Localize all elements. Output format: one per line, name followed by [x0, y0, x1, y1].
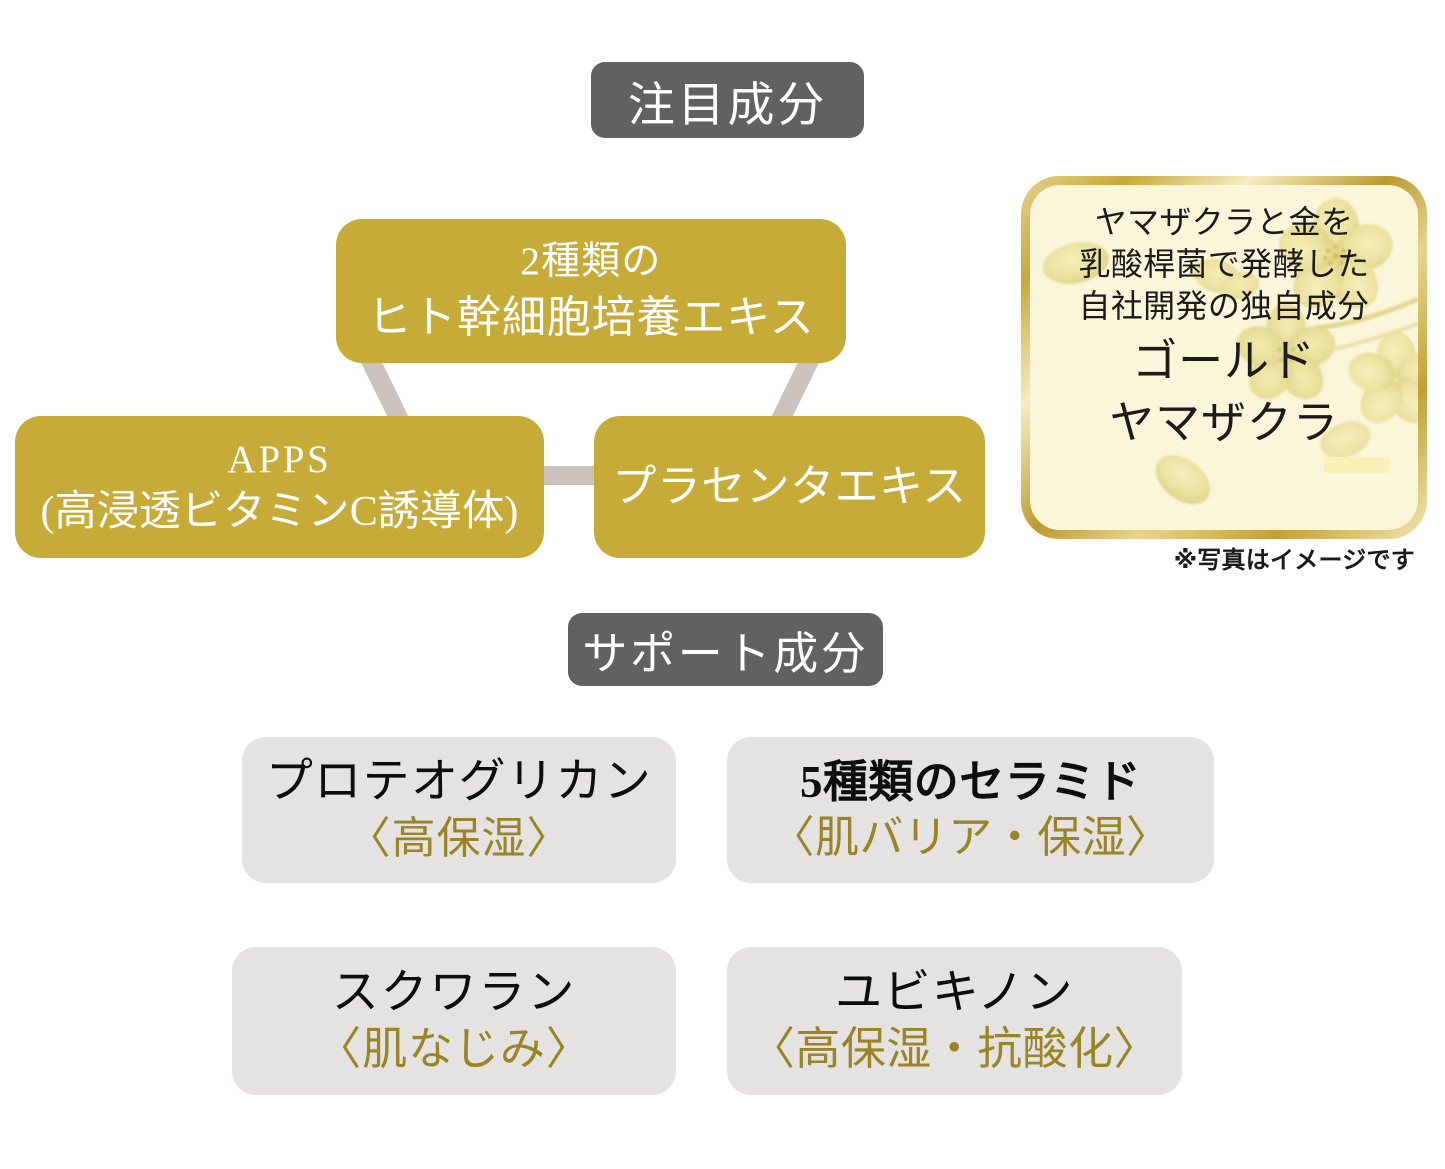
product-card-line5: ヤマザクラ — [1109, 394, 1339, 453]
ingredient-stem-cell-line2: ヒト幹細胞培養エキス — [367, 292, 814, 344]
section-header-featured-ingredients: 注目成分 — [591, 62, 864, 138]
ingredient-placenta-line1: プラセンタエキス — [612, 461, 966, 513]
support-card-proteoglycan-name: プロテオグリカン — [266, 756, 652, 810]
support-card-ubiquinone-name: ユビキノン — [835, 967, 1074, 1021]
product-card-line3: 自社開発の独自成分 — [1079, 285, 1370, 327]
product-image-inner: ヤマザクラと金を 乳酸桿菌で発酵した 自社開発の独自成分 ゴールド ヤマザクラ — [1030, 185, 1418, 530]
product-card-line2: 乳酸桿菌で発酵した — [1079, 243, 1370, 285]
support-card-ceramide-benefit: 〈肌バリア・保湿〉 — [771, 813, 1171, 863]
support-card-squalane-benefit: 〈肌なじみ〉 — [316, 1024, 591, 1075]
support-card-squalane-name: スクワラン — [332, 967, 576, 1021]
section-header-support-ingredients: サポート成分 — [568, 613, 883, 686]
section-header-support-label: サポート成分 — [582, 617, 868, 682]
support-card-ubiquinone-benefit: 〈高保湿・抗酸化〉 — [750, 1024, 1159, 1075]
product-card-line4: ゴールド — [1132, 332, 1316, 391]
support-card-squalane: スクワラン 〈肌なじみ〉 — [232, 947, 676, 1095]
ingredient-box-apps: APPS (高浸透ビタミンC誘導体) — [15, 416, 544, 558]
product-image-caption: ※写真はイメージです — [1021, 540, 1427, 575]
ingredient-apps-line2: (高浸透ビタミンC誘導体) — [40, 488, 518, 538]
ingredient-box-placenta-extract: プラセンタエキス — [594, 416, 985, 558]
ingredient-apps-line1: APPS — [227, 437, 331, 483]
support-card-proteoglycan-benefit: 〈高保湿〉 — [347, 814, 571, 864]
product-card-text: ヤマザクラと金を 乳酸桿菌で発酵した 自社開発の独自成分 ゴールド ヤマザクラ — [1030, 185, 1418, 530]
support-card-proteoglycan: プロテオグリカン 〈高保湿〉 — [242, 737, 676, 883]
product-image-card: ヤマザクラと金を 乳酸桿菌で発酵した 自社開発の独自成分 ゴールド ヤマザクラ — [1021, 176, 1427, 539]
section-header-featured-label: 注目成分 — [628, 66, 827, 135]
support-card-ceramide: 5種類のセラミド 〈肌バリア・保湿〉 — [727, 737, 1214, 883]
support-card-ubiquinone: ユビキノン 〈高保湿・抗酸化〉 — [727, 947, 1182, 1095]
ingredient-stem-cell-line1: 2種類の — [520, 239, 661, 285]
product-card-line1: ヤマザクラと金を — [1095, 201, 1354, 243]
support-card-ceramide-name: 5種類のセラミド — [800, 757, 1141, 808]
ingredient-box-stem-cell-extract: 2種類の ヒト幹細胞培養エキス — [336, 219, 846, 363]
